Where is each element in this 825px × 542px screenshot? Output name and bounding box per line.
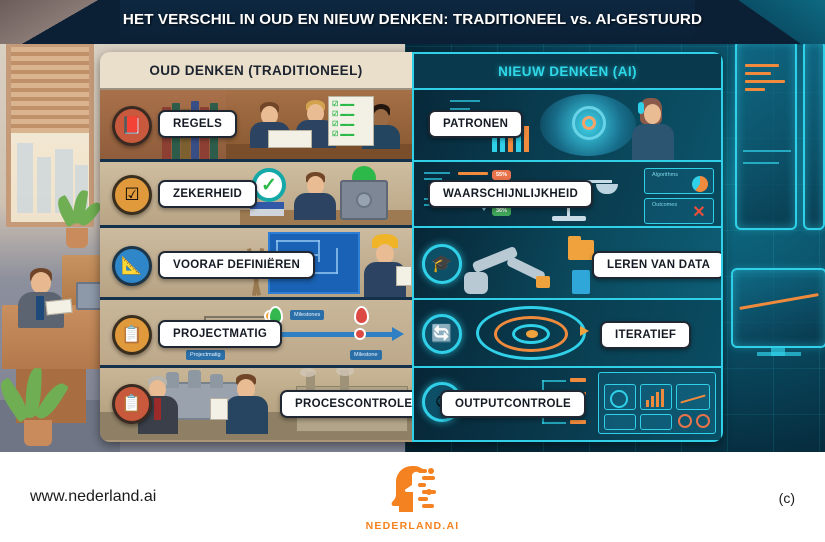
column-new-thinking: PATRONEN 55% 36% <box>412 90 723 442</box>
clipboard-check-icon: 📋 <box>112 384 152 424</box>
ruler-document-icon: 📐 <box>112 246 152 286</box>
label-iteratief[interactable]: ITERATIEF <box>600 321 691 349</box>
row-leren-van-data[interactable]: 🎓 LEREN VAN DATA <box>414 228 721 300</box>
row-regels[interactable]: ☑ ▬▬ ☑ ▬▬ ☑ ▬▬ ☑ ▬▬ 📕 REGELS <box>100 90 412 162</box>
book-pencil-icon: 📕 <box>112 106 152 146</box>
row-procescontrole[interactable]: 📋 PROCESCONTROLE <box>100 368 412 442</box>
tag-milestones: Milestones <box>290 310 324 320</box>
label-algorithms: Algorithms <box>648 170 682 180</box>
tag-projectmatig: Projectmatig <box>186 350 225 360</box>
column-old-thinking: ☑ ▬▬ ☑ ▬▬ ☑ ▬▬ ☑ ▬▬ 📕 REGELS ✓ <box>100 90 412 442</box>
header-new-thinking: NIEUW DENKEN (AI) <box>412 52 723 90</box>
graduation-cap-icon: 🎓 <box>422 244 462 284</box>
milestone-pin-red <box>354 306 369 325</box>
plant-pot-upper <box>66 228 88 248</box>
window-blinds <box>11 47 89 133</box>
row-outputcontrole[interactable]: ⏱ <box>414 368 721 440</box>
prob-high-chip: 55% <box>492 170 511 180</box>
checkbox-check-icon: ☑ <box>112 175 152 215</box>
panel-body: ☑ ▬▬ ☑ ▬▬ ☑ ▬▬ ☑ ▬▬ 📕 REGELS ✓ <box>100 90 723 442</box>
wall-screen-2 <box>803 40 825 230</box>
label-regels[interactable]: REGELS <box>158 110 237 138</box>
clipboard-list-icon: 📋 <box>112 315 152 355</box>
label-patronen[interactable]: PATRONEN <box>428 110 523 138</box>
footer-copyright: (c) <box>779 490 795 506</box>
row-vooraf-definieren[interactable]: 📐 VOORAF DEFINIËREN <box>100 228 412 300</box>
label-outputcontrole[interactable]: OUTPUTCONTROLE <box>440 390 586 418</box>
footer: www.nederland.ai NEDERLAND.AI (c) <box>0 452 825 542</box>
comparison-panel: OUD DENKEN (TRADITIONEEL) NIEUW DENKEN (… <box>100 52 723 442</box>
row-projectmatig[interactable]: Projectmatig Milestones Milestone 📋 PROJ… <box>100 300 412 368</box>
page-title: HET VERSCHIL IN OUD EN NIEUW DENKEN: TRA… <box>0 11 825 28</box>
column-headers: OUD DENKEN (TRADITIONEEL) NIEUW DENKEN (… <box>100 52 723 90</box>
row-waarschijnlijkheid[interactable]: 55% 36% 32% Algorithms Outcomes ✕ <box>414 162 721 228</box>
wall-screen-1 <box>735 40 797 230</box>
refresh-cycle-icon: 🔄 <box>422 314 462 354</box>
row-zekerheid[interactable]: ✓ ☑ ZEKERHEID <box>100 162 412 228</box>
label-outcomes: Outcomes <box>648 200 681 210</box>
tag-milestone: Milestone <box>350 350 382 360</box>
logo-wordmark: NEDERLAND.AI <box>0 520 825 532</box>
nederland-ai-logo-icon <box>382 462 444 518</box>
label-zekerheid[interactable]: ZEKERHEID <box>158 180 257 208</box>
plant-pot-lower <box>24 420 52 446</box>
brand-logo: NEDERLAND.AI <box>0 462 825 532</box>
worker-head <box>31 272 51 294</box>
label-procescontrole[interactable]: PROCESCONTROLE <box>280 390 412 418</box>
label-projectmatig[interactable]: PROJECTMATIG <box>158 320 282 348</box>
label-waarschijnlijkheid[interactable]: WAARSCHIJNLIJKHEID <box>428 180 593 208</box>
infographic-canvas: HET VERSCHIL IN OUD EN NIEUW DENKEN: TRA… <box>0 0 825 542</box>
big-check-circle: ✓ <box>252 168 286 202</box>
headset-icon <box>638 102 644 114</box>
folder-icon <box>568 240 594 260</box>
row-iteratief[interactable]: 🔄 ITERATIEF <box>414 300 721 368</box>
row-patronen[interactable]: PATRONEN <box>414 90 721 162</box>
header-old-thinking: OUD DENKEN (TRADITIONEEL) <box>100 52 412 90</box>
label-vooraf-definieren[interactable]: VOORAF DEFINIËREN <box>158 251 315 279</box>
label-leren-van-data[interactable]: LEREN VAN DATA <box>592 251 721 279</box>
